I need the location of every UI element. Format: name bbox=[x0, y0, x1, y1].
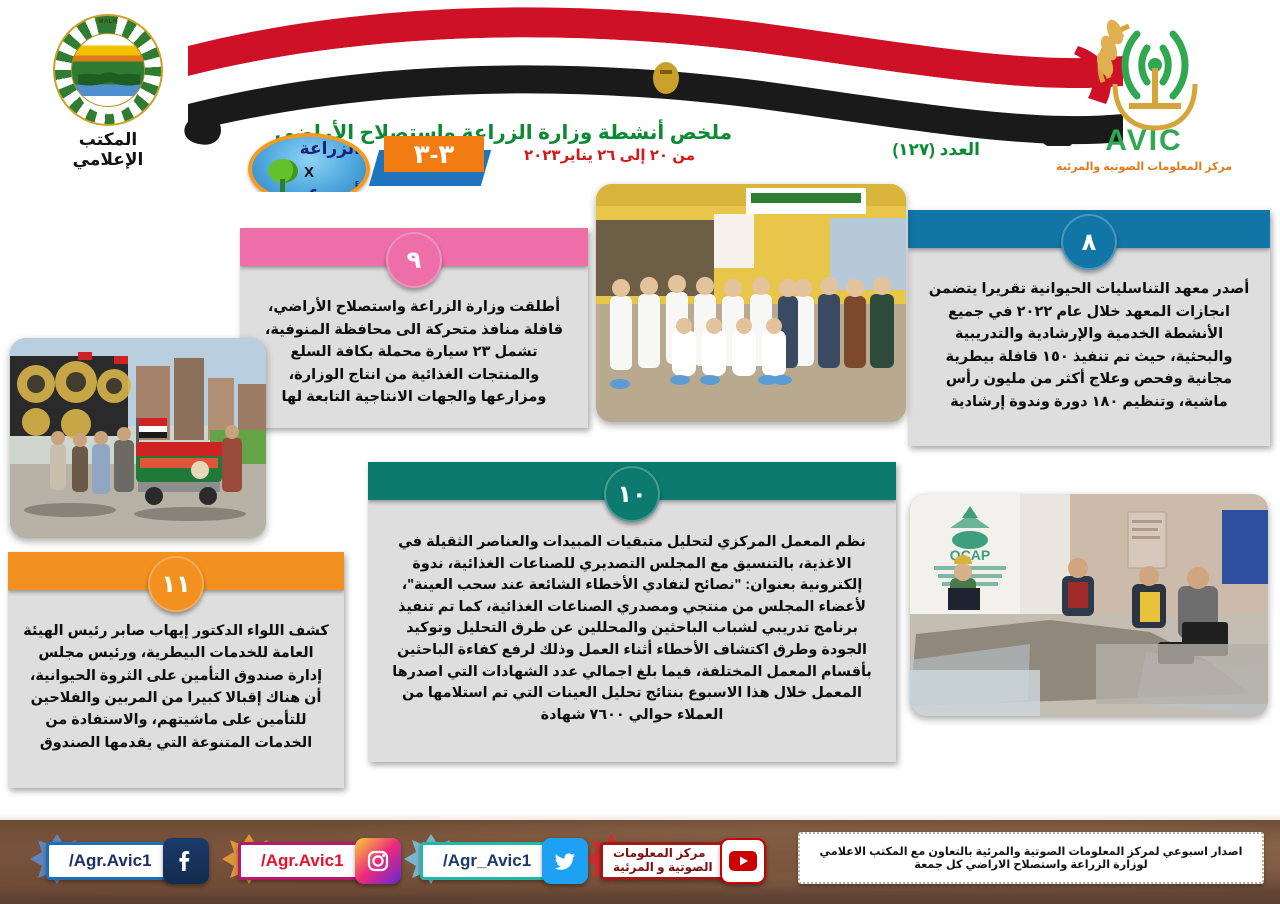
card-11-header: ١١ bbox=[8, 552, 344, 590]
card-8-header: ٨ bbox=[908, 210, 1270, 248]
card-11-text: كشف اللواء الدكتور إيهاب صابر رئيس الهيئ… bbox=[8, 590, 344, 766]
instagram-handle[interactable]: /Agr.Avic1 bbox=[238, 842, 361, 880]
social-link-instagram[interactable]: /Agr.Avic1 bbox=[238, 838, 401, 884]
card-10-text: نظم المعمل المركزي لتحليل متبقيات المبيد… bbox=[368, 500, 896, 738]
photo-qcap-seminar: QCAP bbox=[910, 494, 1268, 716]
newsletter-page: MALR المكتب الإعلامي ملخص أنشطة وزارة ال… bbox=[0, 0, 1280, 904]
week-badge-top-label: الزراعة bbox=[300, 139, 360, 159]
news-card-11: ١١ كشف اللواء الدكتور إيهاب صابر رئيس ال… bbox=[8, 552, 344, 788]
card-8-text: أصدر معهد التناسليات الحيوانية تقريرا يت… bbox=[908, 248, 1270, 426]
malr-emblem-block: MALR المكتب الإعلامي bbox=[42, 14, 174, 170]
youtube-handle-line2: الصوتية و المرئية bbox=[613, 861, 713, 875]
issue-number: العدد (١٢٧) bbox=[892, 140, 980, 160]
tree-icon bbox=[266, 159, 300, 192]
media-office-label: المكتب الإعلامي bbox=[42, 130, 174, 170]
card-8-number-badge: ٨ bbox=[1061, 214, 1117, 270]
news-card-8: ٨ أصدر معهد التناسليات الحيوانية تقريرا … bbox=[908, 210, 1270, 446]
facebook-handle[interactable]: /Agr.Avic1 bbox=[46, 842, 169, 880]
avic-broadcast-icon bbox=[1069, 10, 1219, 132]
news-card-9: ٩ أطلقت وزارة الزراعة واستصلاح الأراضي، … bbox=[240, 228, 588, 428]
agriculture-week-badge: الزراعة X أسبوع bbox=[248, 133, 370, 192]
card-11-number-badge: ١١ bbox=[148, 556, 204, 612]
part-number-badge: ٣-٣ bbox=[374, 136, 486, 188]
card-9-number-badge: ٩ bbox=[386, 232, 442, 288]
youtube-handle-line1: مركز المعلومات bbox=[613, 847, 706, 861]
twitter-handle[interactable]: /Agr_Avic1 bbox=[420, 842, 548, 880]
social-link-youtube[interactable]: مركز المعلومات الصوتية و المرئية bbox=[600, 838, 766, 884]
part-number-label: ٣-٣ bbox=[414, 139, 454, 170]
photo-veterinary-team bbox=[596, 184, 906, 422]
avic-subtitle: مركز المعلومات الصوتية والمرئية bbox=[1044, 160, 1244, 173]
malr-inner-emblem bbox=[71, 33, 145, 107]
week-badge-x-label: X bbox=[304, 164, 314, 181]
date-range: من ٢٠ إلى ٢٦ يناير٢٠٢٣ bbox=[524, 146, 695, 164]
youtube-icon bbox=[720, 838, 766, 884]
twitter-icon bbox=[542, 838, 588, 884]
header: MALR المكتب الإعلامي ملخص أنشطة وزارة ال… bbox=[0, 0, 1280, 192]
instagram-icon bbox=[355, 838, 401, 884]
malr-ring-text: MALR bbox=[98, 19, 117, 25]
avic-logo-block: AVIC مركز المعلومات الصوتية والمرئية bbox=[1044, 10, 1244, 173]
card-10-number-badge: ١٠ bbox=[604, 466, 660, 522]
youtube-handle[interactable]: مركز المعلومات الصوتية و المرئية bbox=[600, 842, 726, 880]
card-9-text: أطلقت وزارة الزراعة واستصلاح الأراضي، قا… bbox=[240, 266, 588, 421]
publication-note: اصدار اسبوعي لمركز المعلومات الصوتية وال… bbox=[798, 832, 1264, 884]
card-10-header: ١٠ bbox=[368, 462, 896, 500]
malr-seal-icon: MALR bbox=[53, 14, 163, 126]
card-9-header: ٩ bbox=[240, 228, 588, 266]
social-link-facebook[interactable]: /Agr.Avic1 bbox=[46, 838, 209, 884]
social-link-twitter[interactable]: /Agr_Avic1 bbox=[420, 838, 588, 884]
photo-food-caravan bbox=[10, 338, 266, 538]
news-card-10: ١٠ نظم المعمل المركزي لتحليل متبقيات الم… bbox=[368, 462, 896, 762]
facebook-icon bbox=[163, 838, 209, 884]
week-badge-bottom-label: أسبوع bbox=[308, 183, 360, 192]
